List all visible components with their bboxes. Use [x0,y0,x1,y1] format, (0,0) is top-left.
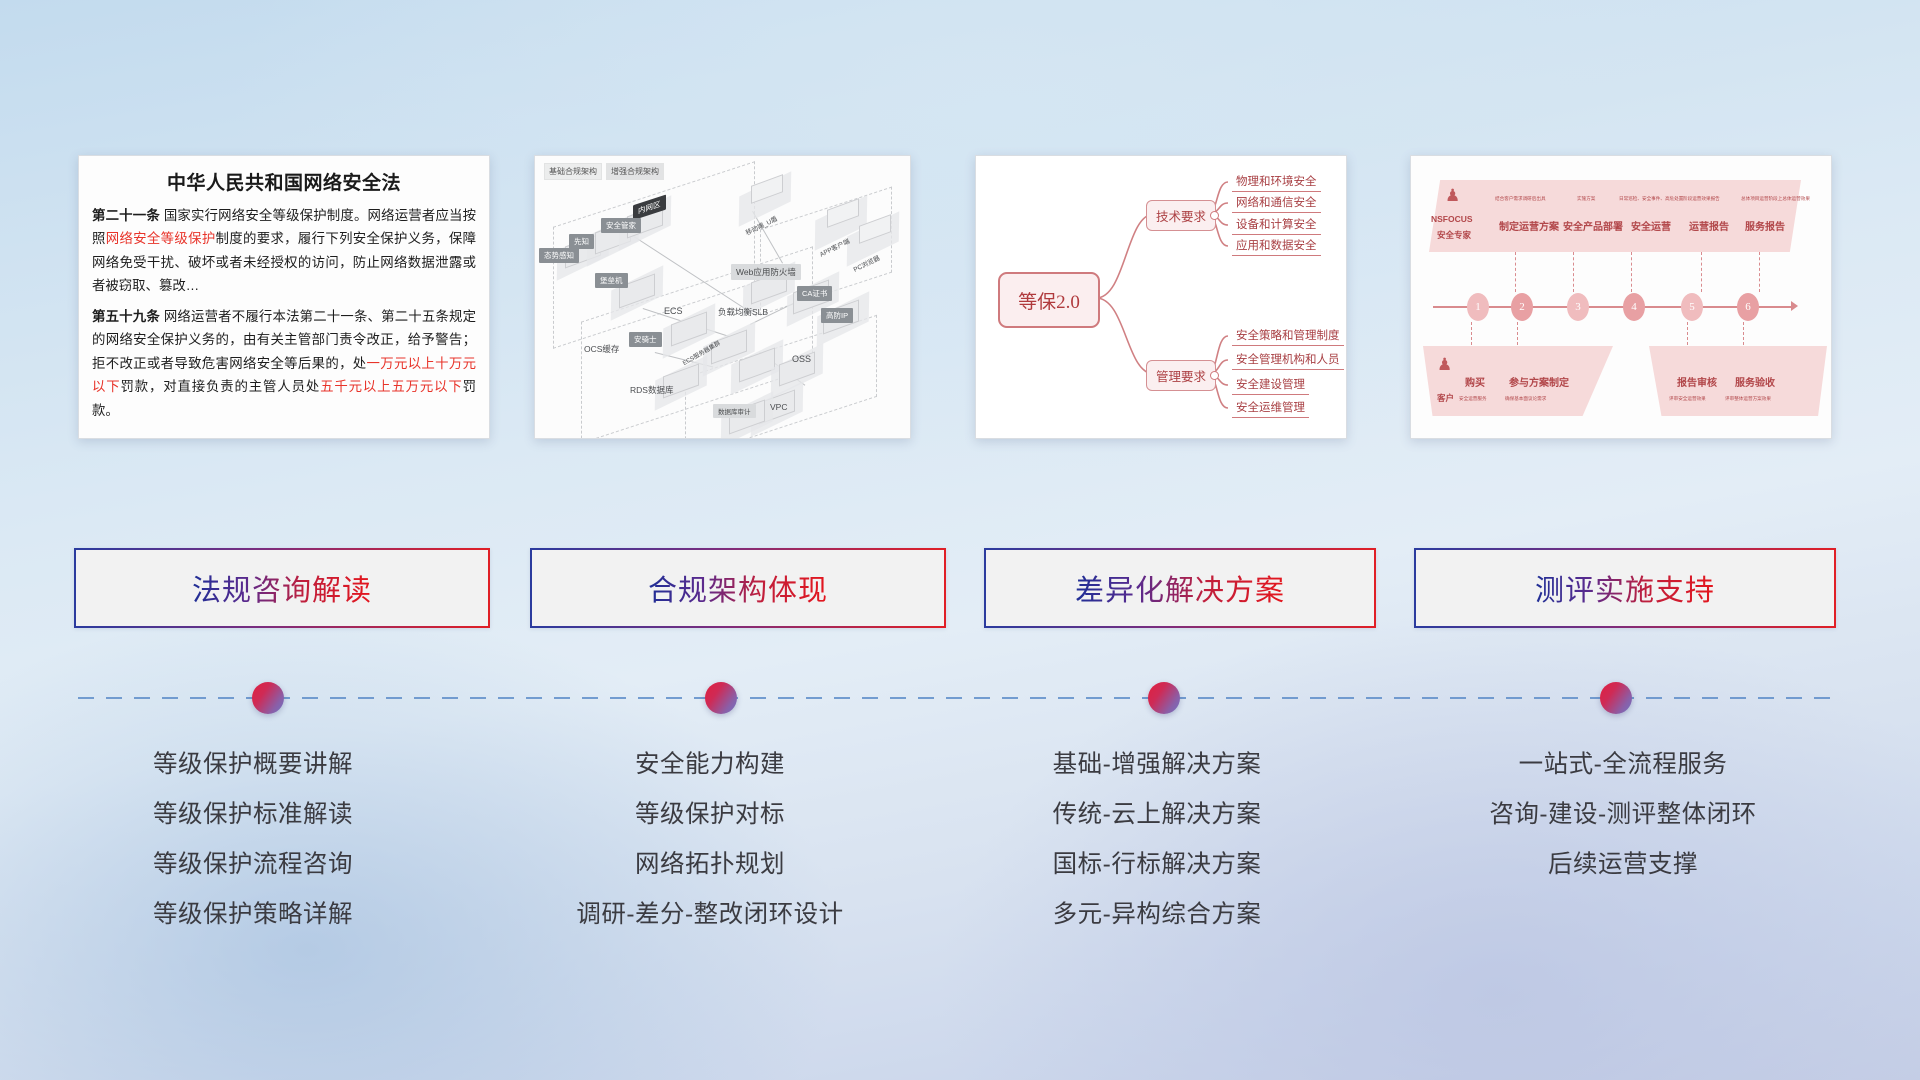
node-label-ca: CA证书 [797,286,832,301]
customer-step-sub: 安全运营服务 [1459,396,1487,402]
customer-step-sub: 评审整体运营方案效果 [1725,396,1771,402]
mindmap-leaf: 安全管理机构和人员 [1232,351,1344,370]
roadmap-step-3[interactable]: 3 [1567,293,1589,321]
customer-step-sub: 评审安全运营效果 [1669,396,1706,402]
list-item: 等级保护标准解读 [78,790,428,840]
connector-tick [1573,252,1575,292]
roadmap-step-1[interactable]: 1 [1467,293,1489,321]
connector-tick [1701,252,1703,292]
list-item: 基础-增强解决方案 [972,740,1342,790]
tab-basic-architecture[interactable]: 基础合规架构 [544,163,602,180]
law-card-inner: 中华人民共和国网络安全法 第二十一条 国家实行网络安全等级保护制度。网络运营者应… [79,156,489,438]
customer-label: 客户 [1437,392,1454,404]
law-article-number: 第五十九条 [92,309,160,324]
mindmap-canvas: 等保2.0 技术要求 物理和环境安全 网络和通信安全 设备和计算安全 应用和数据… [976,156,1346,438]
list-item: 等级保护策略详解 [78,890,428,940]
customer-step-title: 购买 [1465,374,1485,389]
roadmap-step-2[interactable]: 2 [1511,293,1533,321]
mindmap-root-node[interactable]: 等保2.0 [998,272,1100,328]
customer-step-title: 参与方案制定 [1509,374,1569,389]
node-label-situation-awareness: 态势感知 [539,248,579,263]
mindmap-leaf: 设备和计算安全 [1232,216,1321,235]
feature-list-regulation: 等级保护概要讲解 等级保护标准解读 等级保护流程咨询 等级保护策略详解 [78,740,428,940]
customer-step-sub: 确保基本面议论需求 [1505,396,1546,402]
law-article-number: 第二十一条 [92,208,160,223]
node-label-waf: Web应用防火墙 [731,264,801,280]
section-header-evaluation-support[interactable]: 测评实施支持 [1414,548,1836,628]
timeline-dot-2[interactable] [705,682,737,714]
connector-tick [1743,322,1745,350]
list-item: 后续运营支撑 [1418,840,1828,890]
law-paragraph: 第五十九条 网络运营者不履行本法第二十一条、第二十五条规定的网络安全保护义务的，… [92,305,476,422]
node-label-oss: OSS [787,352,816,366]
node-label-rds: RDS数据库 [625,382,678,398]
law-text-highlight: 网络安全等级保护 [106,231,216,246]
connector-tick [1687,322,1689,350]
mindmap-branch-management[interactable]: 管理要求 [1146,360,1216,391]
law-text-highlight: 五千元以上五万元以下 [320,379,463,394]
provider-label-line1: NSFOCUS [1431,214,1473,224]
card-compliance-architecture: 基础合规架构 增强合规架构 [534,155,911,439]
card-nsfocus-roadmap: ♟ NSFOCUS 安全专家 结合客户需求调研后出具 制定运营方案 实施方案 安… [1410,155,1832,439]
provider-step-title: 安全运营 [1631,218,1671,233]
roadmap-step-5[interactable]: 5 [1681,293,1703,321]
timeline-dot-4[interactable] [1600,682,1632,714]
list-item: 传统-云上解决方案 [972,790,1342,840]
node-label-antiddos: 高防IP [821,308,853,323]
customer-step-title: 服务验收 [1735,374,1775,389]
mindmap-branch-technical[interactable]: 技术要求 [1146,200,1216,231]
mindmap-leaf: 物理和环境安全 [1232,173,1321,192]
mindmap-leaf: 安全运维管理 [1232,399,1309,418]
list-item: 国标-行标解决方案 [972,840,1342,890]
mindmap-collapse-icon[interactable] [1210,371,1219,380]
node-label-db-audit: 数据库审计 [713,404,756,418]
timeline-dot-3[interactable] [1148,682,1180,714]
tab-enhanced-architecture[interactable]: 增强合规架构 [606,163,664,180]
list-item: 一站式-全流程服务 [1418,740,1828,790]
node-label-ecs: ECS [659,304,688,318]
timeline-dot-1[interactable] [252,682,284,714]
law-title: 中华人民共和国网络安全法 [79,168,489,195]
law-paragraph: 第二十一条 国家实行网络安全等级保护制度。网络运营者应当按照网络安全等级保护制度… [92,204,476,298]
connector-tick [1517,322,1519,350]
provider-label-line2: 安全专家 [1437,229,1471,241]
section-header-label: 法规咨询解读 [192,567,372,609]
provider-step-sub: 日常巡检、安全事件、高危处置 [1619,196,1683,202]
mindmap-leaf: 网络和通信安全 [1232,194,1321,213]
mindmap-leaf: 安全策略和管理制度 [1232,327,1344,346]
timeline-arrow-icon [1791,301,1798,311]
feature-list-architecture: 安全能力构建 等级保护对标 网络拓扑规划 调研-差分-整改闭环设计 [530,740,890,940]
connector-tick [1631,252,1633,292]
node-label-xianzhi: 先知 [569,234,594,249]
architecture-canvas: 基础合规架构 增强合规架构 [535,156,910,438]
list-item: 安全能力构建 [530,740,890,790]
connector-tick [1515,252,1517,292]
customer-icon: ♟ [1437,356,1452,373]
architecture-tabs: 基础合规架构 增强合规架构 [544,163,664,180]
customer-step-title: 报告审核 [1677,374,1717,389]
list-item: 调研-差分-整改闭环设计 [530,890,890,940]
provider-step-sub: 结合客户需求调研后出具 [1495,196,1546,202]
roadmap-canvas: ♟ NSFOCUS 安全专家 结合客户需求调研后出具 制定运营方案 实施方案 安… [1411,156,1831,438]
mindmap-leaf: 安全建设管理 [1232,376,1309,395]
node-label-vpc: VPC [765,400,792,414]
connector-tick [1471,322,1473,350]
feature-list-solution: 基础-增强解决方案 传统-云上解决方案 国标-行标解决方案 多元-异构综合方案 [972,740,1342,940]
feature-list-evaluation: 一站式-全流程服务 咨询-建设-测评整体闭环 后续运营支撑 [1418,740,1828,890]
provider-step-sub: 实施方案 [1577,196,1595,202]
section-header-label: 差异化解决方案 [1075,567,1285,609]
list-item: 等级保护概要讲解 [78,740,428,790]
section-header-label: 合规架构体现 [648,567,828,609]
section-header-label: 测评实施支持 [1535,567,1715,609]
node-label-security-butler: 安全管家 [601,218,641,233]
roadmap-step-6[interactable]: 6 [1737,293,1759,321]
law-body: 第二十一条 国家实行网络安全等级保护制度。网络运营者应当按照网络安全等级保护制度… [79,204,489,422]
connector-tick [1759,252,1761,292]
section-header-differentiated-solution[interactable]: 差异化解决方案 [984,548,1376,628]
provider-band [1429,180,1801,252]
law-text-seg: 罚款，对直接负责的主管人员处 [121,379,321,394]
node-label-bastion: 堡垒机 [595,273,628,288]
mindmap-leaf: 应用和数据安全 [1232,237,1321,256]
list-item: 等级保护对标 [530,790,890,840]
provider-step-title: 制定运营方案 [1499,218,1559,233]
list-item: 网络拓扑规划 [530,840,890,890]
section-header-compliance-architecture[interactable]: 合规架构体现 [530,548,946,628]
node-label-slb: 负载均衡SLB [713,304,773,320]
section-header-regulation-consulting[interactable]: 法规咨询解读 [74,548,490,628]
timeline-dashed-line [78,697,1840,699]
card-cybersecurity-law: 中华人民共和国网络安全法 第二十一条 国家实行网络安全等级保护制度。网络运营者应… [78,155,490,439]
provider-step-title: 服务报告 [1745,218,1785,233]
node-label-ocs: OCS缓存 [579,341,624,357]
security-expert-icon: ♟ [1445,187,1460,204]
card-mindmap-dengbao: 等保2.0 技术要求 物理和环境安全 网络和通信安全 设备和计算安全 应用和数据… [975,155,1347,439]
list-item: 咨询-建设-测评整体闭环 [1418,790,1828,840]
provider-step-sub: 阶段运营效果报告 [1683,196,1720,202]
list-item: 等级保护流程咨询 [78,840,428,890]
provider-step-title: 安全产品部署 [1563,218,1623,233]
provider-step-title: 运营报告 [1689,218,1729,233]
provider-step-sub: 总体项目运营阶段上总体运营效果 [1741,196,1810,202]
node-label-anqishi: 安骑士 [629,332,662,347]
slide-canvas: 中华人民共和国网络安全法 第二十一条 国家实行网络安全等级保护制度。网络运营者应… [0,0,1920,1080]
roadmap-step-4[interactable]: 4 [1623,293,1645,321]
mindmap-collapse-icon[interactable] [1210,211,1219,220]
list-item: 多元-异构综合方案 [972,890,1342,940]
